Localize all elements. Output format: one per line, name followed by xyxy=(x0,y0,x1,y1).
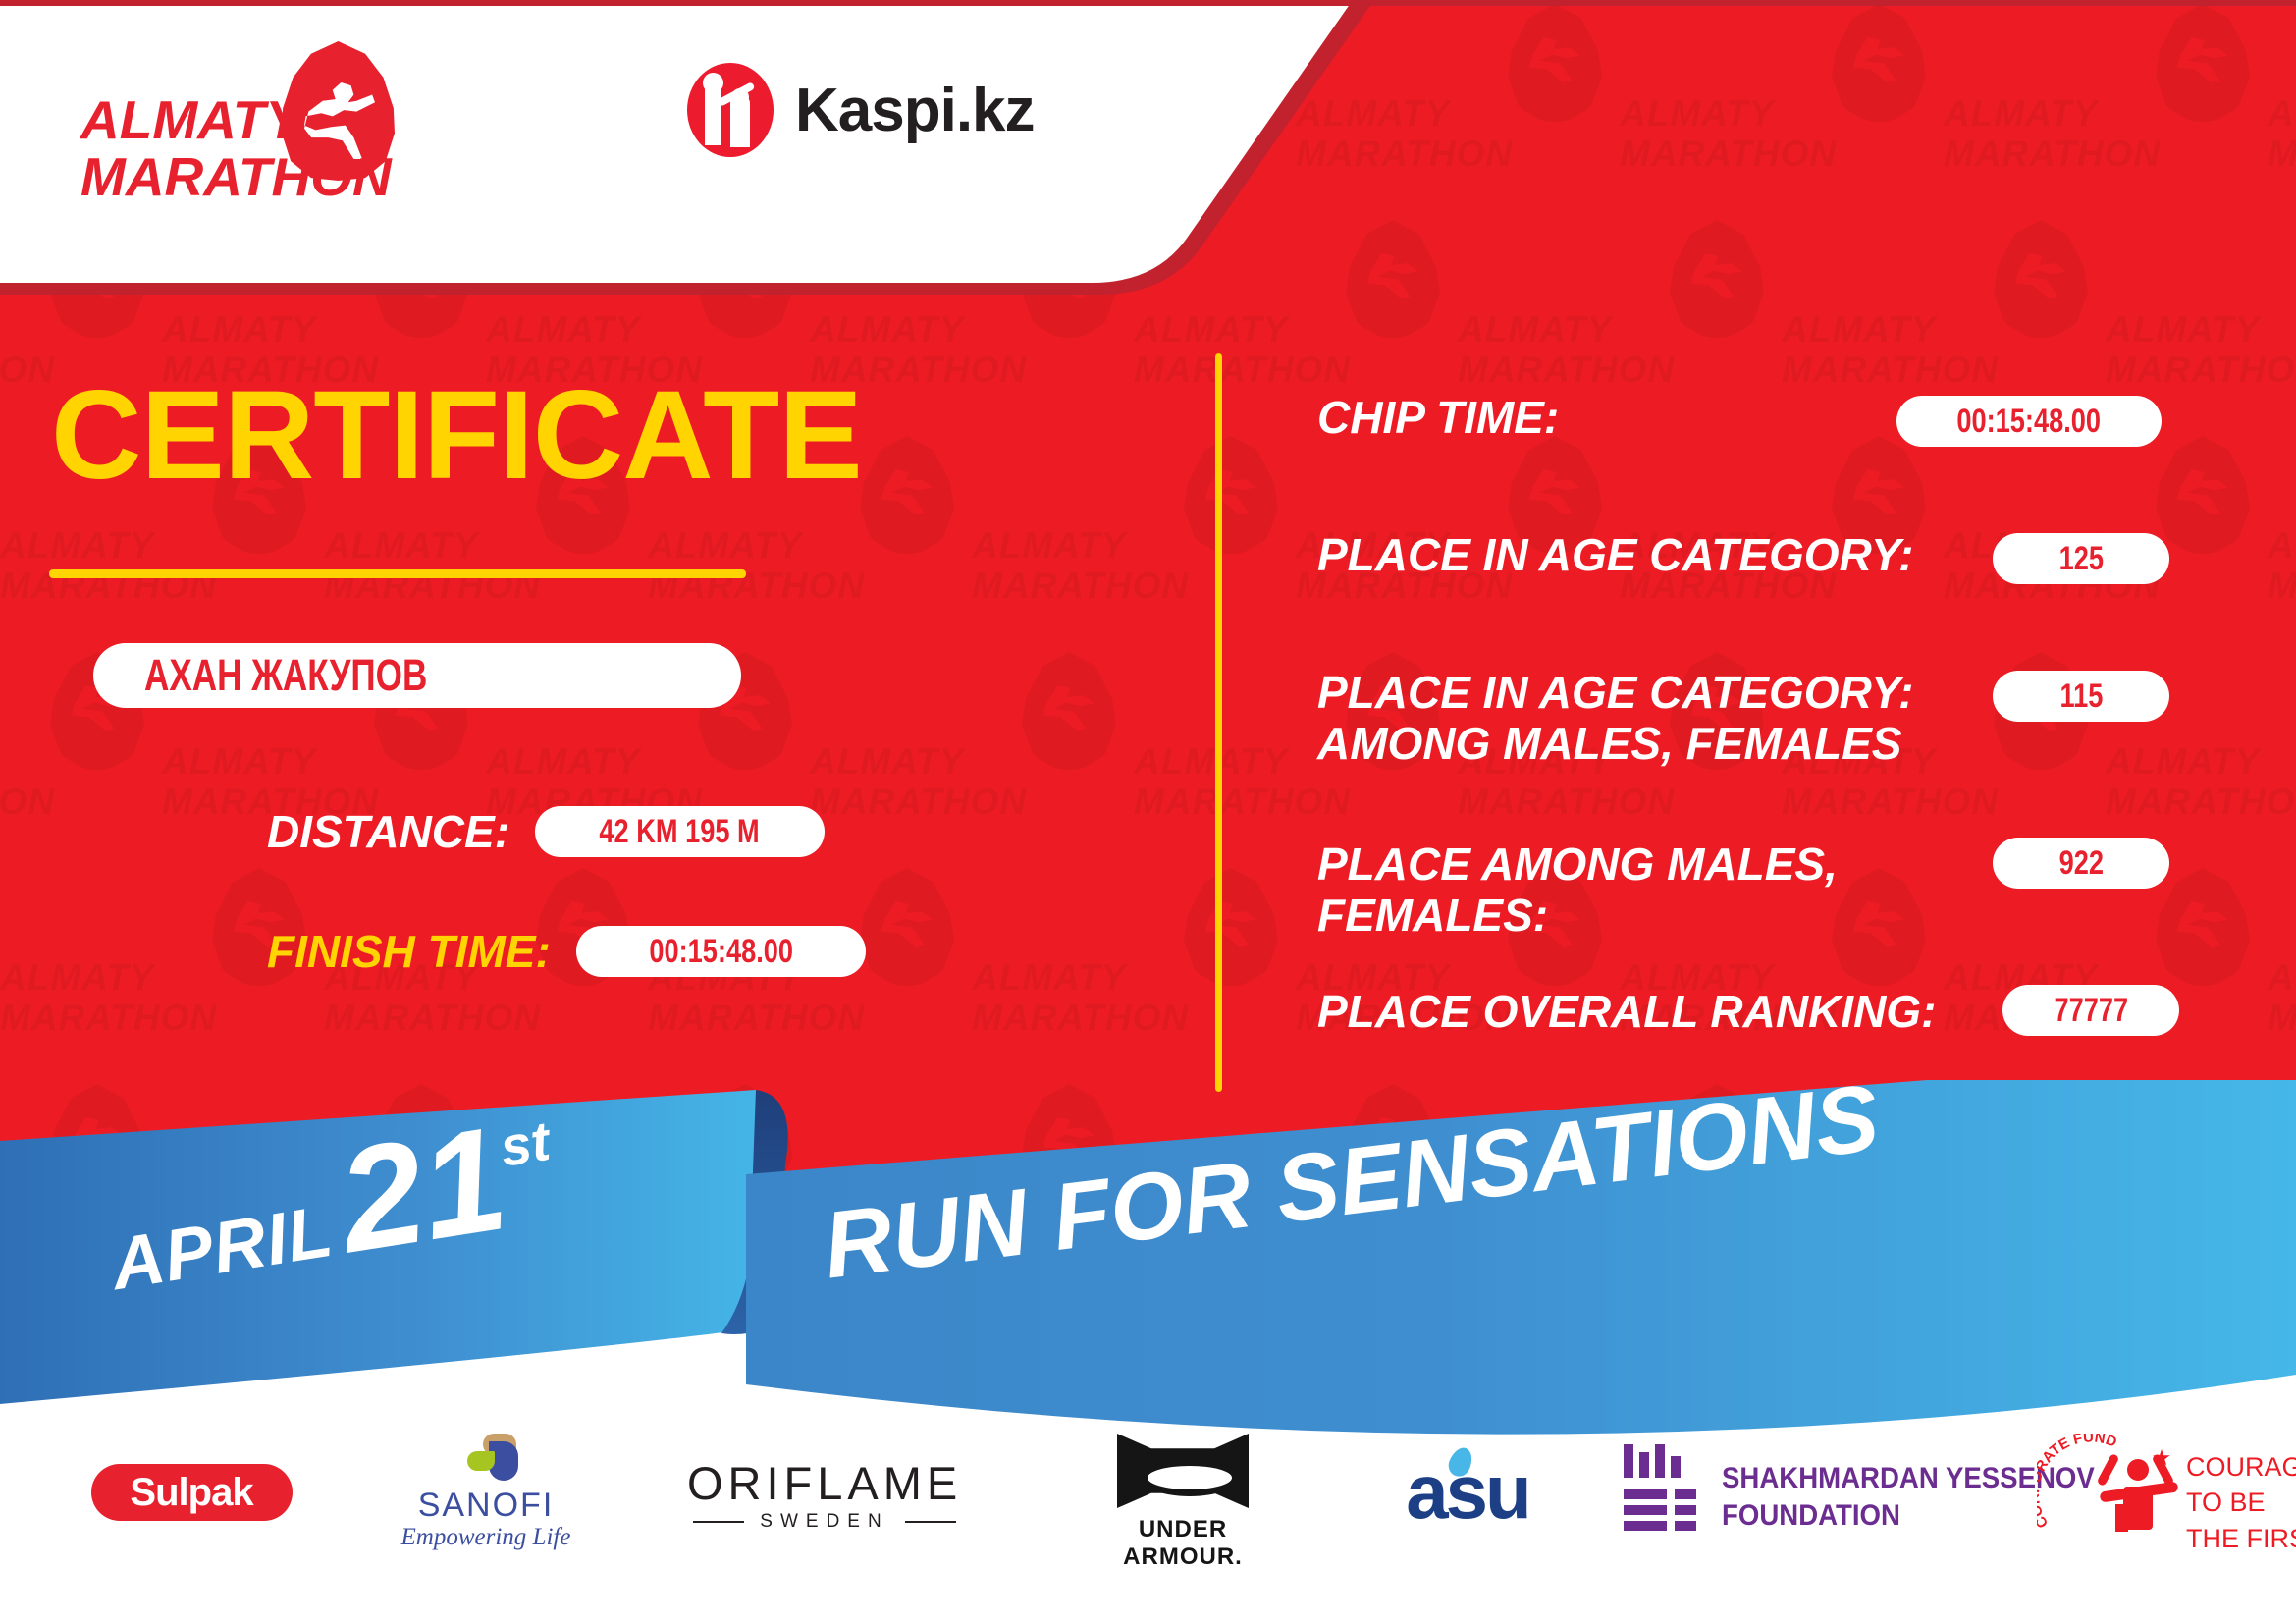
courage-figure-icon xyxy=(2102,1447,2174,1532)
sanofi-logo-text: SANOFI xyxy=(373,1487,599,1525)
sponsor-yessenov-foundation: SHAKHMARDAN YESSENOV FOUNDATION xyxy=(1610,1429,2042,1556)
sponsor-sanofi: SANOFI Empowering Life xyxy=(373,1429,599,1556)
watermark-tile: ALMATYMARATHON xyxy=(2268,864,2296,1080)
chip-time-label: CHIP TIME: xyxy=(1317,393,1559,444)
sulpak-logo-icon: Sulpak xyxy=(91,1464,293,1521)
asu-logo-icon: asu xyxy=(1377,1443,1559,1542)
watermark-tile: ALMATYMARATHON xyxy=(810,648,1134,864)
distance-value: 42 KM 195 M xyxy=(600,813,760,851)
participant-name-field: АХАН ЖАКУПОВ xyxy=(93,643,741,708)
watermark-tile: ALMATYMARATHON xyxy=(2268,432,2296,648)
sanofi-tagline: Empowering Life xyxy=(373,1524,599,1551)
almaty-logo-line1: ALMATY xyxy=(80,88,301,151)
distance-label: DISTANCE: xyxy=(267,805,509,858)
place-age-category-row: PLACE IN AGE CATEGORY: xyxy=(1317,530,1913,581)
place-overall-ranking-value: 77777 xyxy=(2054,992,2128,1030)
sanofi-mark-icon xyxy=(467,1434,518,1481)
distance-value-pill: 42 KM 195 M xyxy=(535,806,825,857)
sanofi-logo-icon: SANOFI Empowering Life xyxy=(373,1434,599,1551)
chip-time-row: CHIP TIME: xyxy=(1317,393,1559,444)
almaty-marathon-logo: ALMATY MARATHON xyxy=(80,39,404,177)
kaspi-logo-text: Kaspi.kz xyxy=(795,76,1035,145)
kaspi-logo: Kaspi.kz xyxy=(687,61,1035,159)
certificate-page: ALMATYMARATHONALMATYMARATHONALMATYMARATH… xyxy=(0,0,2296,1624)
page-title: CERTIFICATE xyxy=(51,373,862,499)
finish-time-label: FINISH TIME: xyxy=(267,925,551,978)
under-armour-logo-icon: UNDER ARMOUR. xyxy=(1090,1434,1276,1551)
place-age-category-value-pill: 125 xyxy=(1993,533,2169,584)
kaspi-figures-icon xyxy=(687,63,774,157)
place-overall-ranking-value-pill: 77777 xyxy=(2002,985,2179,1036)
place-overall-ranking-row: PLACE OVERALL RANKING: xyxy=(1317,987,1936,1038)
watermark-tile: ALMATYMARATHON xyxy=(972,864,1296,1080)
place-age-category-label: PLACE IN AGE CATEGORY: xyxy=(1317,530,1913,581)
place-age-category-gender-value: 115 xyxy=(2059,677,2103,716)
place-among-gender-value-pill: 922 xyxy=(1993,838,2169,889)
place-age-category-gender-value-pill: 115 xyxy=(1993,671,2169,722)
column-divider xyxy=(1215,353,1222,1092)
yessenov-mark-icon xyxy=(1620,1444,1710,1533)
place-overall-ranking-label: PLACE OVERALL RANKING: xyxy=(1317,987,1936,1038)
place-age-category-gender-label: PLACE IN AGE CATEGORY: AMONG MALES, FEMA… xyxy=(1317,668,1913,770)
finish-time-value-pill: 00:15:48.00 xyxy=(576,926,866,977)
chip-time-value: 00:15:48.00 xyxy=(1957,403,2102,441)
top-red-rule xyxy=(0,0,2296,6)
finish-time-value: 00:15:48.00 xyxy=(649,933,793,971)
title-underline xyxy=(49,569,746,578)
courage-tagline: COURAGE TO BE THE FIRST! xyxy=(2186,1449,2296,1556)
watermark-tile: ALMATYMARATHON xyxy=(1944,864,2268,1080)
almaty-logo-line2: MARATHON xyxy=(80,145,392,208)
sponsor-courage-fund: CORPORATE FUND COURAGE TO BE THE FIRST! xyxy=(2032,1429,2296,1556)
sponsor-sulpak: Sulpak xyxy=(79,1429,304,1556)
participant-name: АХАН ЖАКУПОВ xyxy=(144,650,427,701)
place-among-gender-value: 922 xyxy=(2058,844,2103,883)
yessenov-logo-icon: SHAKHMARDAN YESSENOV FOUNDATION xyxy=(1620,1438,2032,1546)
finish-time-row: FINISH TIME: 00:15:48.00 xyxy=(267,925,866,978)
distance-row: DISTANCE: 42 KM 195 M xyxy=(267,805,825,858)
event-day-suffix: st xyxy=(496,1109,554,1179)
place-among-gender-row: PLACE AMONG MALES, FEMALES: xyxy=(1317,839,1838,942)
chip-time-value-pill: 00:15:48.00 xyxy=(1896,396,2162,447)
sponsor-oriflame: ORIFLAME SWEDEN xyxy=(677,1429,972,1556)
under-armour-logo-text: UNDER ARMOUR. xyxy=(1090,1516,1276,1571)
oriflame-logo-text: ORIFLAME xyxy=(687,1456,962,1510)
yessenov-logo-line2: FOUNDATION xyxy=(1722,1499,1900,1533)
sulpak-logo-text: Sulpak xyxy=(130,1471,252,1515)
oriflame-sub-text: SWEDEN xyxy=(687,1511,962,1533)
courage-logo-icon: CORPORATE FUND COURAGE TO BE THE FIRST! xyxy=(2037,1434,2296,1551)
oriflame-logo-icon: ORIFLAME SWEDEN xyxy=(687,1448,962,1537)
watermark-tile: ALMATYMARATHON xyxy=(972,432,1296,648)
place-among-gender-label: PLACE AMONG MALES, FEMALES: xyxy=(1317,839,1838,942)
event-day: 21 xyxy=(331,1111,513,1268)
sponsor-strip: Sulpak SANOFI Empowering Life ORIFLAME S… xyxy=(0,1429,2296,1605)
sponsor-asu: asu xyxy=(1360,1429,1575,1556)
sponsor-under-armour: UNDER ARMOUR. xyxy=(1070,1429,1296,1556)
place-age-category-value: 125 xyxy=(2058,540,2103,578)
place-age-category-gender-row: PLACE IN AGE CATEGORY: AMONG MALES, FEMA… xyxy=(1317,668,1913,770)
